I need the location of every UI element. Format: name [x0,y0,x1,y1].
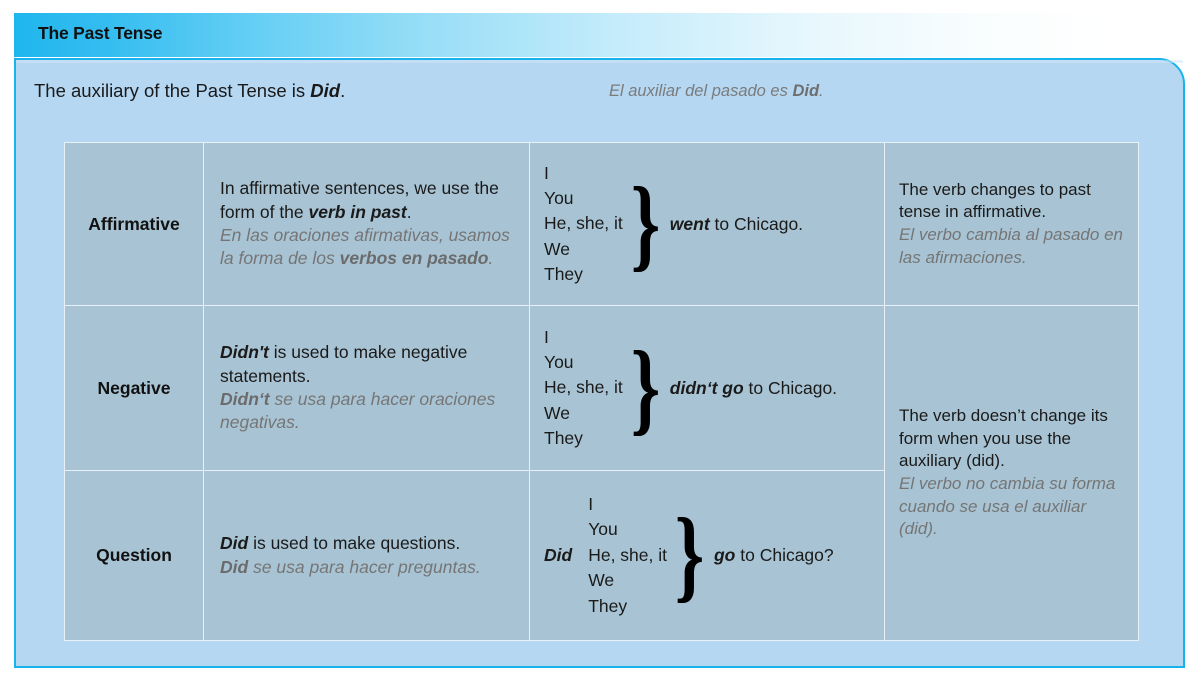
pronoun-item: I [588,492,667,517]
rule-spanish: Didn‘t se usa para hacer oraciones negat… [220,388,515,435]
note-english: The verb changes to past tense in affirm… [899,180,1091,222]
pronoun-item: I [544,325,623,350]
row-rule-question: Did is used to make questions. Did se us… [204,471,530,641]
intro-spanish-bold: Did [792,82,819,100]
intro-english: The auxiliary of the Past Tense is Did. [34,80,345,102]
rule-es-bold: Didn‘t [220,389,270,409]
example-predicate: went to Chicago. [670,214,803,235]
example-verb: went [670,214,710,234]
pronoun-item: We [588,568,667,593]
pronoun-item: We [544,237,623,262]
pronoun-item: You [588,517,667,542]
rule-en-bold: verb in past [309,202,407,222]
pronoun-item: They [544,426,623,451]
example-block: I You He, she, it We They } didn‘t go to… [530,325,884,452]
example-predicate: go to Chicago? [714,545,834,566]
slide-canvas: The Past Tense The auxiliary of the Past… [0,0,1200,676]
table-row: Negative Didn't is used to make negative… [65,306,1139,471]
pronoun-list: I You He, she, it We They [544,161,623,288]
pronoun-item: You [544,350,623,375]
row-example-question: Did I You He, she, it We They } go to Ch… [530,471,885,641]
rule-text: Did is used to make questions. Did se us… [204,532,529,579]
example-verb: go [714,545,735,565]
row-note-negative-question: The verb doesn’t change its form when yo… [885,306,1139,641]
rule-en-post: . [407,202,412,222]
curly-brace-icon: } [631,356,661,420]
page-title: The Past Tense [38,23,162,44]
row-label-affirmative: Affirmative [65,143,204,306]
row-rule-negative: Didn't is used to make negative statemen… [204,306,530,471]
note-english: The verb doesn’t change its form when yo… [899,406,1108,470]
row-example-affirmative: I You He, she, it We They } went to Chic… [530,143,885,306]
header-banner [14,13,1185,57]
pronoun-item: He, she, it [544,375,623,400]
rule-english: Didn't is used to make negative statemen… [220,342,467,385]
pronoun-item: They [588,594,667,619]
rule-english: In affirmative sentences, we use the for… [220,178,499,221]
note-spanish: El verbo cambia al pasado en las afirmac… [899,224,1128,269]
rule-spanish: En las oraciones afirmativas, usamos la … [220,224,515,271]
example-tail: to Chicago. [744,378,837,398]
example-tail: to Chicago. [710,214,803,234]
example-tail: to Chicago? [735,545,833,565]
rule-en-bold: Did [220,533,248,553]
pronoun-item: You [544,186,623,211]
pronoun-item: We [544,401,623,426]
note-text: The verb doesn’t change its form when yo… [885,405,1138,541]
intro-english-pre: The auxiliary of the Past Tense is [34,80,310,101]
curly-brace-icon: } [675,523,705,587]
pronoun-item: He, she, it [544,211,623,236]
rule-spanish: Did se usa para hacer preguntas. [220,556,515,579]
rule-english: Did is used to make questions. [220,533,460,553]
pronoun-item: They [544,262,623,287]
pronoun-list: I You He, she, it We They [544,325,623,452]
intro-row: The auxiliary of the Past Tense is Did. … [34,80,1164,116]
table-row: Affirmative In affirmative sentences, we… [65,143,1139,306]
pronoun-item: He, she, it [588,543,667,568]
curly-brace-icon: } [631,192,661,256]
intro-spanish: El auxiliar del pasado es Did. [609,82,824,101]
rule-es-bold: verbos en pasado [340,248,489,268]
row-note-affirmative: The verb changes to past tense in affirm… [885,143,1139,306]
rule-es-bold: Did [220,557,248,577]
row-label-negative: Negative [65,306,204,471]
rule-en-bold: Didn't [220,342,269,362]
row-rule-affirmative: In affirmative sentences, we use the for… [204,143,530,306]
intro-english-post: . [340,80,345,101]
example-verb: didn‘t go [670,378,744,398]
row-example-negative: I You He, she, it We They } didn‘t go to… [530,306,885,471]
row-label-question: Question [65,471,204,641]
rule-text: In affirmative sentences, we use the for… [204,177,529,270]
rule-es-post: se usa para hacer preguntas. [248,557,481,577]
note-text: The verb changes to past tense in affirm… [885,179,1138,269]
pronoun-item: I [544,161,623,186]
card-top-edge [16,60,1183,63]
example-predicate: didn‘t go to Chicago. [670,378,837,399]
example-block: Did I You He, she, it We They } go to Ch… [530,492,884,619]
example-block: I You He, she, it We They } went to Chic… [530,161,884,288]
intro-english-bold: Did [310,80,340,101]
rule-text: Didn't is used to make negative statemen… [204,341,529,434]
example-auxiliary: Did [544,545,572,566]
note-spanish: El verbo no cambia su forma cuando se us… [899,473,1128,541]
past-tense-table: Affirmative In affirmative sentences, we… [64,142,1139,641]
intro-spanish-post: . [819,82,824,100]
intro-spanish-pre: El auxiliar del pasado es [609,82,792,100]
rule-en-post: is used to make questions. [248,533,460,553]
pronoun-list: I You He, she, it We They [588,492,667,619]
rule-es-post: . [488,248,493,268]
